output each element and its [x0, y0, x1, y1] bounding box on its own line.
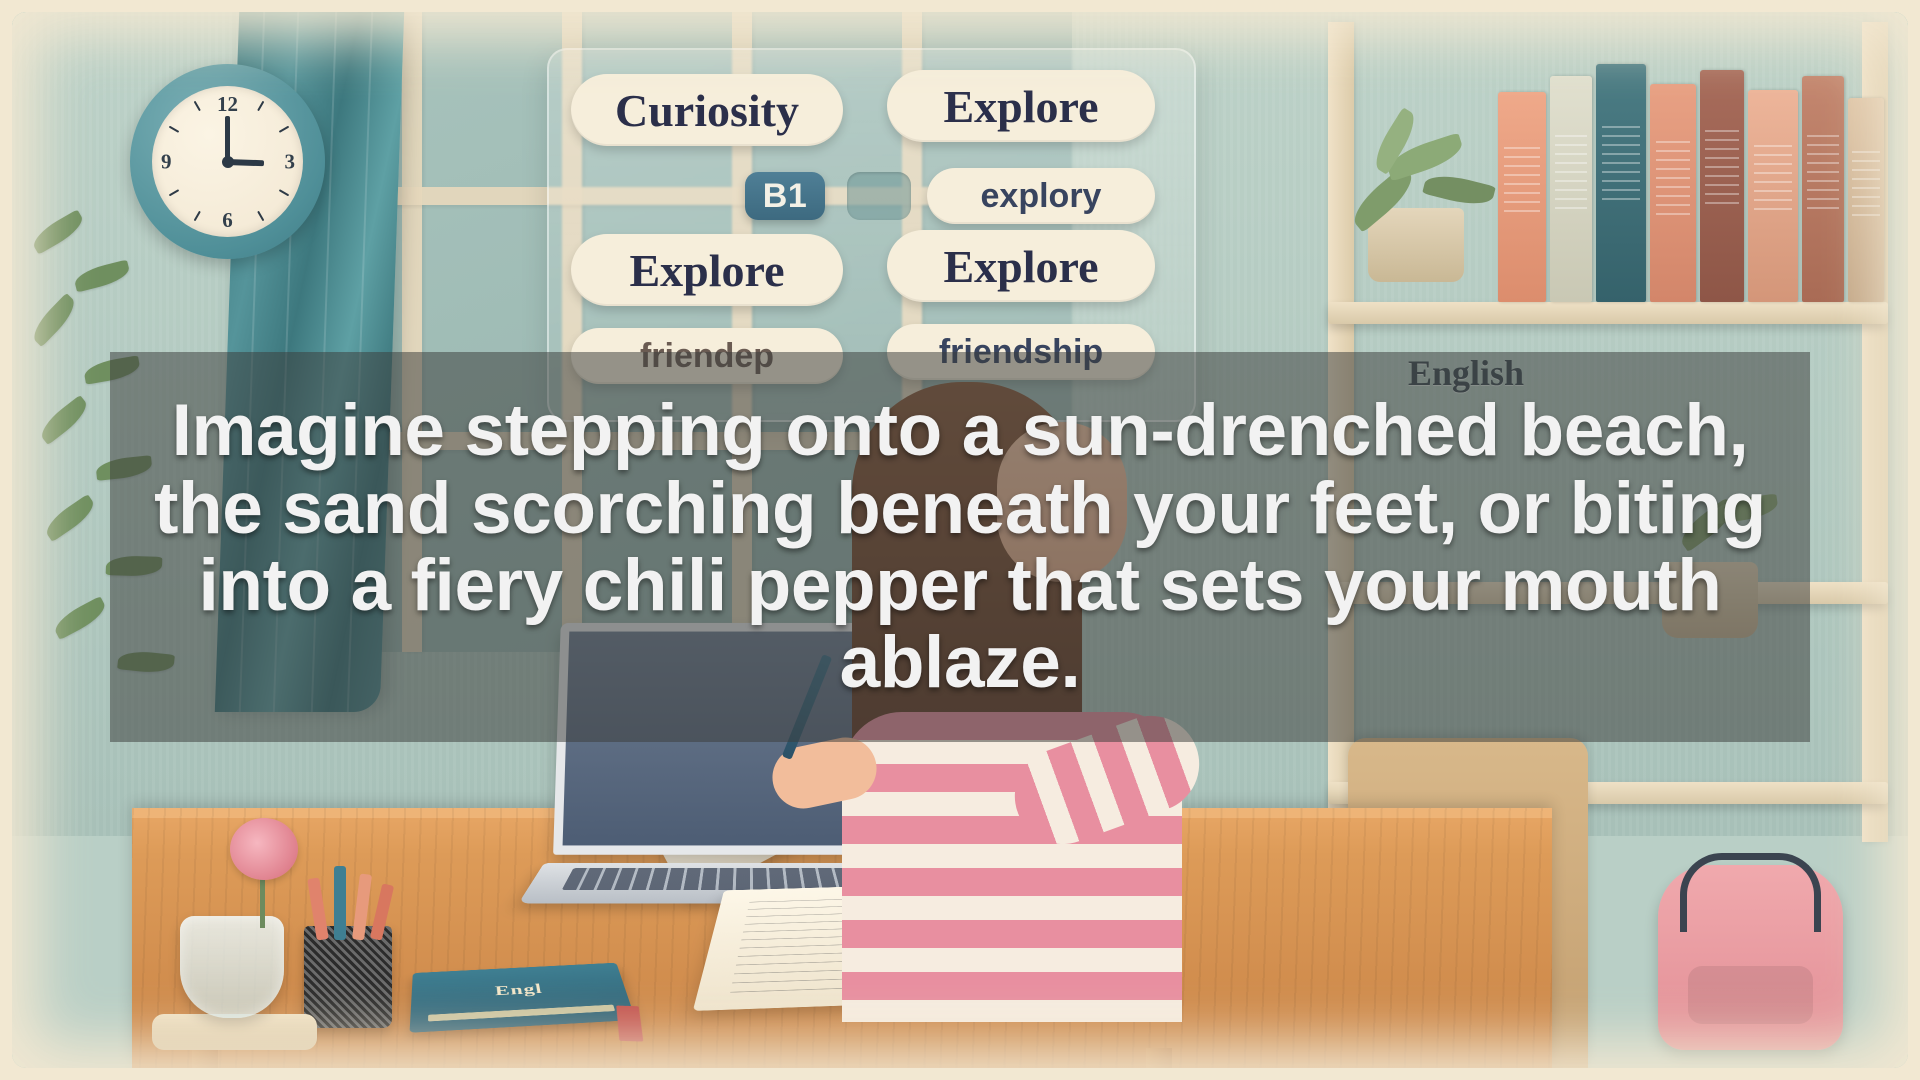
pen [334, 866, 346, 940]
blank-chip[interactable] [847, 172, 911, 220]
book-spine [1748, 90, 1798, 302]
flashcard-curiosity[interactable]: Curiosity [571, 74, 843, 146]
vase-coaster [152, 1014, 317, 1050]
subtitle-caption-text: Imagine stepping onto a sun-drenched bea… [132, 392, 1788, 702]
clock-numeral-12: 12 [217, 92, 238, 117]
book-spine [1550, 76, 1592, 302]
backpack [1658, 865, 1843, 1050]
blue-book-band [428, 1004, 615, 1021]
shelf-board-top [1328, 302, 1888, 324]
book-spine [1802, 76, 1844, 302]
level-badge-b1[interactable]: B1 [745, 172, 825, 220]
clock-numeral-9: 9 [161, 149, 172, 174]
flashcard-explory[interactable]: explory [927, 168, 1155, 224]
flashcard-explore-mid-right[interactable]: Explore [887, 230, 1155, 302]
book-spine [1848, 98, 1884, 302]
glass-vase [180, 916, 284, 1018]
desk-leg [192, 1048, 218, 1068]
backpack-strap [1680, 853, 1821, 932]
book-spine [1498, 92, 1546, 302]
pen-cup [304, 926, 392, 1028]
book-spine [1650, 84, 1696, 302]
backpack-pocket [1688, 966, 1814, 1024]
flashcard-explore-top-right[interactable]: Explore [887, 70, 1155, 142]
book-spine [1700, 70, 1744, 302]
flashcard-explore-mid-left[interactable]: Explore [571, 234, 843, 306]
plant-pot [1368, 208, 1464, 282]
screenshot-root: 12 3 6 9 [0, 0, 1920, 1080]
clock-center-pivot [222, 156, 234, 168]
clock-numeral-3: 3 [285, 149, 296, 174]
blue-book-title: Engl [494, 981, 544, 999]
plant-leaf [1422, 170, 1496, 210]
desk-leg [1146, 1048, 1172, 1068]
clock-hour-hand [225, 116, 230, 162]
subtitle-caption-bar: Imagine stepping onto a sun-drenched bea… [110, 352, 1810, 742]
rose-bloom [230, 818, 298, 880]
bookmark-ribbon [616, 1006, 643, 1042]
book-spine [1596, 64, 1646, 302]
